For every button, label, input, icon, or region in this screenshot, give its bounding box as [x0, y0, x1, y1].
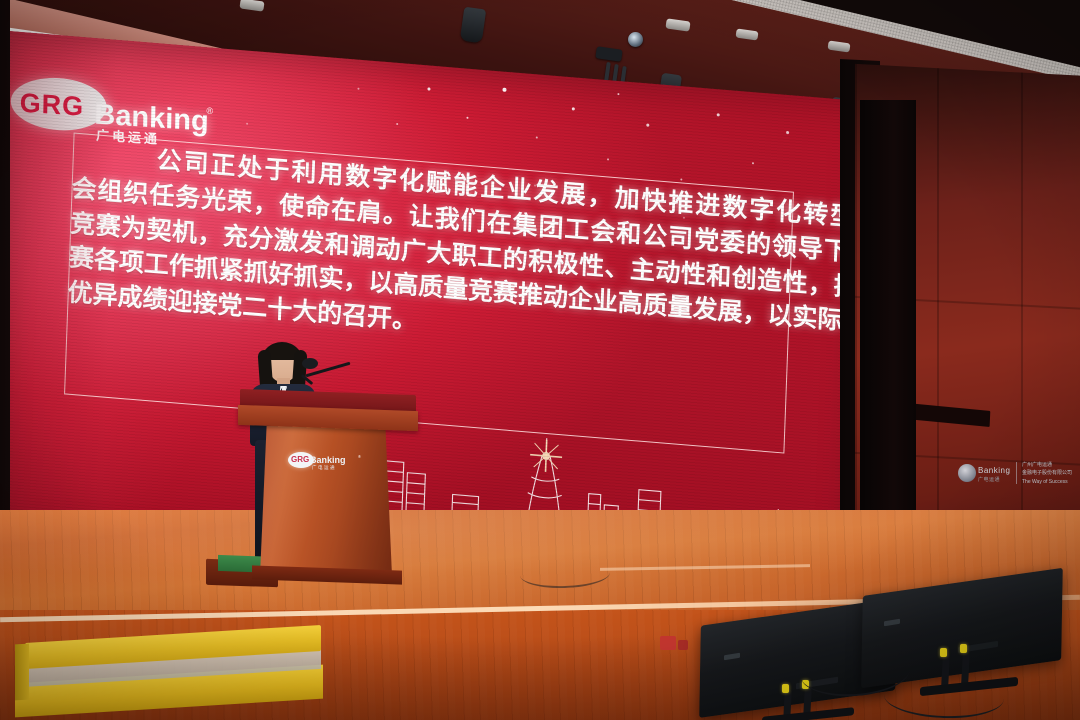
- plaque-sub-line-2: 金融电子股份有限公司: [1022, 470, 1072, 478]
- microphone-head-icon: [302, 358, 318, 369]
- spot-lens-4: [628, 32, 643, 47]
- plaque-primary-text: Banking: [978, 466, 1010, 475]
- can-light-2: [735, 29, 758, 41]
- podium-logo-banking-text: Banking: [310, 455, 346, 465]
- floor-object-red-1: [660, 636, 676, 650]
- cable-clip-right-1: [940, 648, 947, 657]
- podium-body: [260, 426, 392, 576]
- cable-clip-left-1: [782, 684, 789, 693]
- speaker-podium: GRG Banking ® 广电运通: [248, 392, 408, 584]
- stage-side-curtain: [860, 100, 916, 570]
- podium-logo-grg-text: GRG: [291, 455, 309, 464]
- plaque-divider: [1016, 462, 1017, 484]
- floor-object-red-2: [678, 640, 688, 650]
- can-light-3: [827, 41, 850, 53]
- wall-brand-plaque: Banking 广电运通 广州广电运通 金融电子股份有限公司 The Way o…: [958, 458, 1074, 488]
- moving-head-light-1: [460, 7, 487, 44]
- podium-sheen: [260, 426, 392, 576]
- podium-brand-logo: GRG Banking ® 广电运通: [288, 450, 366, 472]
- step-side-edge: [15, 644, 29, 701]
- can-light-1: [665, 18, 690, 31]
- can-light-5: [239, 0, 264, 12]
- plaque-sub-line-1: 广州广电运通: [1022, 462, 1052, 470]
- podium-logo-registered-mark: ®: [358, 454, 361, 459]
- plaque-sub-line-3: The Way of Success: [1022, 479, 1068, 487]
- plaque-chinese-text: 广电运通: [978, 476, 1000, 483]
- podium-logo-chinese-text: 广电运通: [312, 465, 336, 471]
- plaque-grg-oval-icon: [958, 464, 976, 482]
- stage-step: [15, 634, 325, 720]
- par-light-1: [595, 46, 622, 62]
- cable-clip-right-2: [960, 644, 967, 653]
- event-photo-scene: GRG Banking ® 广电运通 公司正处于利用数字化赋能企业发展，加快推进…: [0, 0, 1080, 720]
